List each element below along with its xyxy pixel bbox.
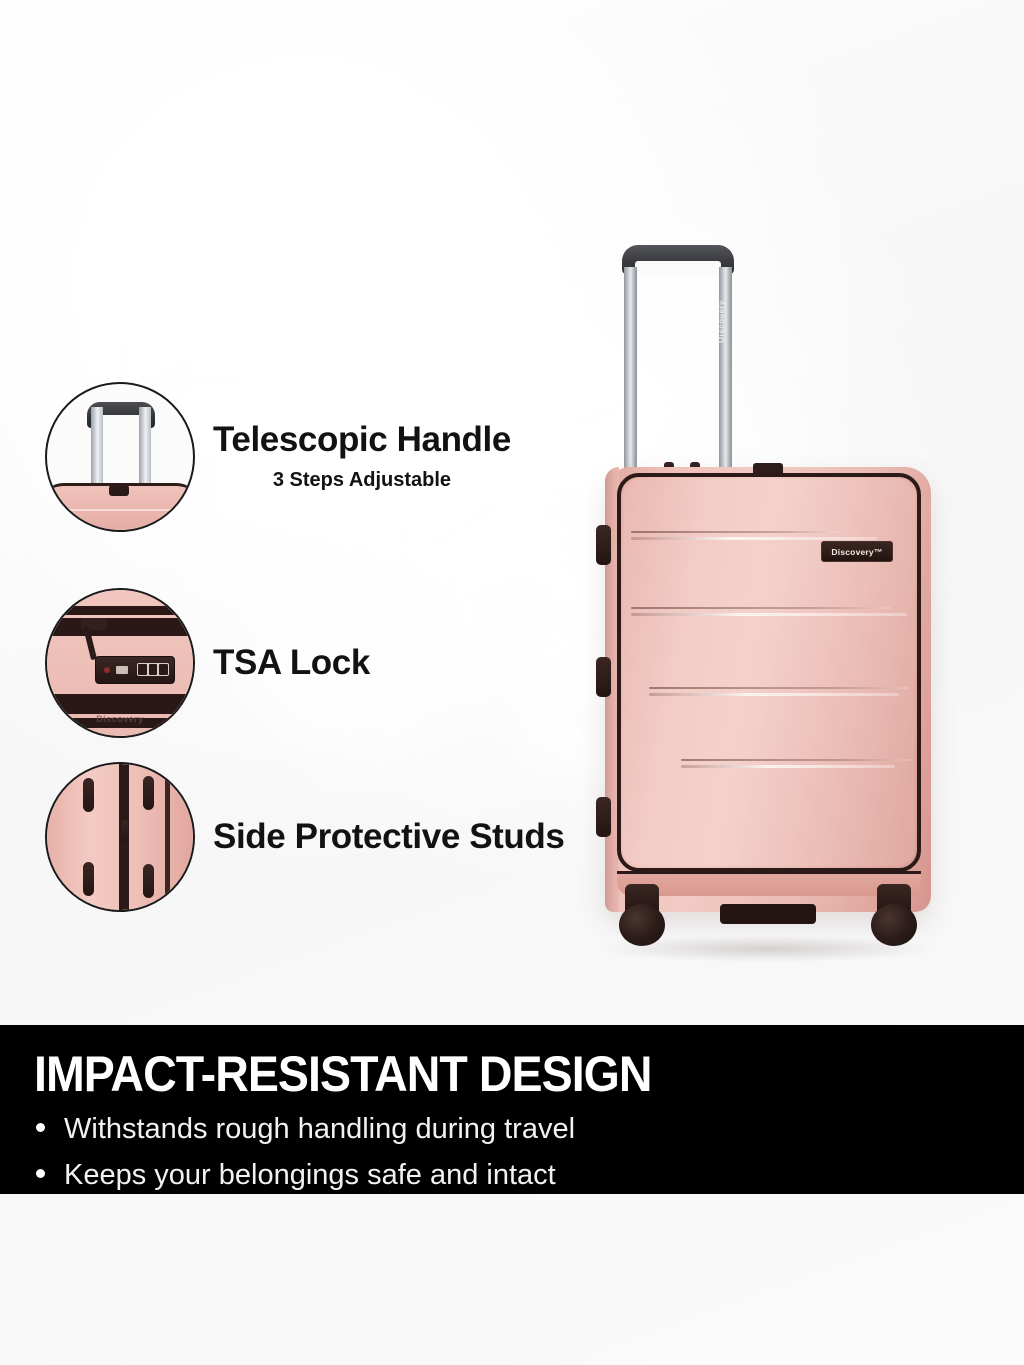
bullet-dot-icon xyxy=(36,1123,45,1132)
feature-labels: TSA Lock xyxy=(213,645,370,682)
telescopic-bar-right xyxy=(719,267,732,475)
brand-logo-text: Discovery xyxy=(96,714,144,724)
banner-title: IMPACT-RESISTANT DESIGN xyxy=(34,1045,652,1103)
brand-plaque: Discovery™ xyxy=(821,541,893,562)
bullet-dot-icon xyxy=(36,1169,45,1178)
product-shadow xyxy=(598,936,938,962)
suitcase-base-strip xyxy=(617,871,921,896)
bullet-text: Withstands rough handling during travel xyxy=(64,1112,575,1146)
telescopic-bar-left xyxy=(624,267,637,475)
feature-labels: Side Protective Studs xyxy=(213,819,564,856)
banner-bullet-list: Withstands rough handling during travel … xyxy=(36,1112,575,1204)
list-item: Withstands rough handling during travel xyxy=(36,1112,575,1146)
panel-ridge xyxy=(631,613,907,616)
side-handle-mid xyxy=(596,657,611,697)
suitcase-body: Discovery™ xyxy=(605,467,931,912)
spinner-wheel-right xyxy=(871,898,917,944)
lock-indicator-dot xyxy=(104,667,110,673)
feature-title: Telescopic Handle xyxy=(213,422,511,459)
spinner-wheel-left xyxy=(619,898,665,944)
impact-resistant-banner: IMPACT-RESISTANT DESIGN Withstands rough… xyxy=(0,1025,1024,1194)
panel-ridge xyxy=(649,687,909,689)
feature-tsa-lock: Discovery TSA Lock xyxy=(45,588,370,738)
product-image-suitcase: Discovery Discovery™ xyxy=(598,245,938,955)
side-handle-top xyxy=(596,525,611,565)
telescopic-handle-grip xyxy=(622,245,734,275)
protective-stud xyxy=(83,778,94,812)
feature-subtitle: 3 Steps Adjustable xyxy=(213,469,511,492)
feature-title: Side Protective Studs xyxy=(213,819,564,856)
brand-plaque-text: Discovery™ xyxy=(831,547,882,557)
lock-combination-dials xyxy=(137,663,169,676)
panel-ridge xyxy=(631,607,891,609)
panel-ridge xyxy=(649,693,899,696)
dark-trim-strip xyxy=(47,606,193,615)
protective-stud xyxy=(143,776,154,810)
handle-latch xyxy=(109,485,129,496)
side-seam-secondary xyxy=(165,764,170,910)
feature-labels: Telescopic Handle 3 Steps Adjustable xyxy=(213,422,511,493)
protective-stud xyxy=(143,864,154,898)
panel-ridge xyxy=(631,531,841,533)
lock-keyhole xyxy=(116,666,128,674)
list-item: Keeps your belongings safe and intact xyxy=(36,1158,575,1192)
dark-trim-strip xyxy=(47,694,193,714)
bullet-text: Keeps your belongings safe and intact xyxy=(64,1158,556,1192)
dark-trim-strip xyxy=(47,618,193,636)
handle-brand-text: Discovery xyxy=(717,300,726,343)
panel-ridge xyxy=(631,537,877,540)
feature-image-side-studs xyxy=(45,762,195,912)
feature-side-protective-studs: Side Protective Studs xyxy=(45,762,564,912)
feature-image-tsa-lock: Discovery xyxy=(45,588,195,738)
bottom-foot xyxy=(720,904,816,924)
feature-telescopic-handle: Telescopic Handle 3 Steps Adjustable xyxy=(45,382,511,532)
feature-title: TSA Lock xyxy=(213,645,370,682)
panel-ridge xyxy=(681,759,911,761)
protective-stud xyxy=(83,862,94,896)
side-latch xyxy=(121,820,128,842)
feature-image-telescopic-handle xyxy=(45,382,195,532)
product-stage: Telescopic Handle 3 Steps Adjustable xyxy=(0,0,1024,1025)
side-handle-bottom xyxy=(596,797,611,837)
suitcase-front-panel: Discovery™ xyxy=(623,479,915,866)
panel-ridge xyxy=(681,765,895,768)
tsa-lock-icon xyxy=(95,656,175,684)
